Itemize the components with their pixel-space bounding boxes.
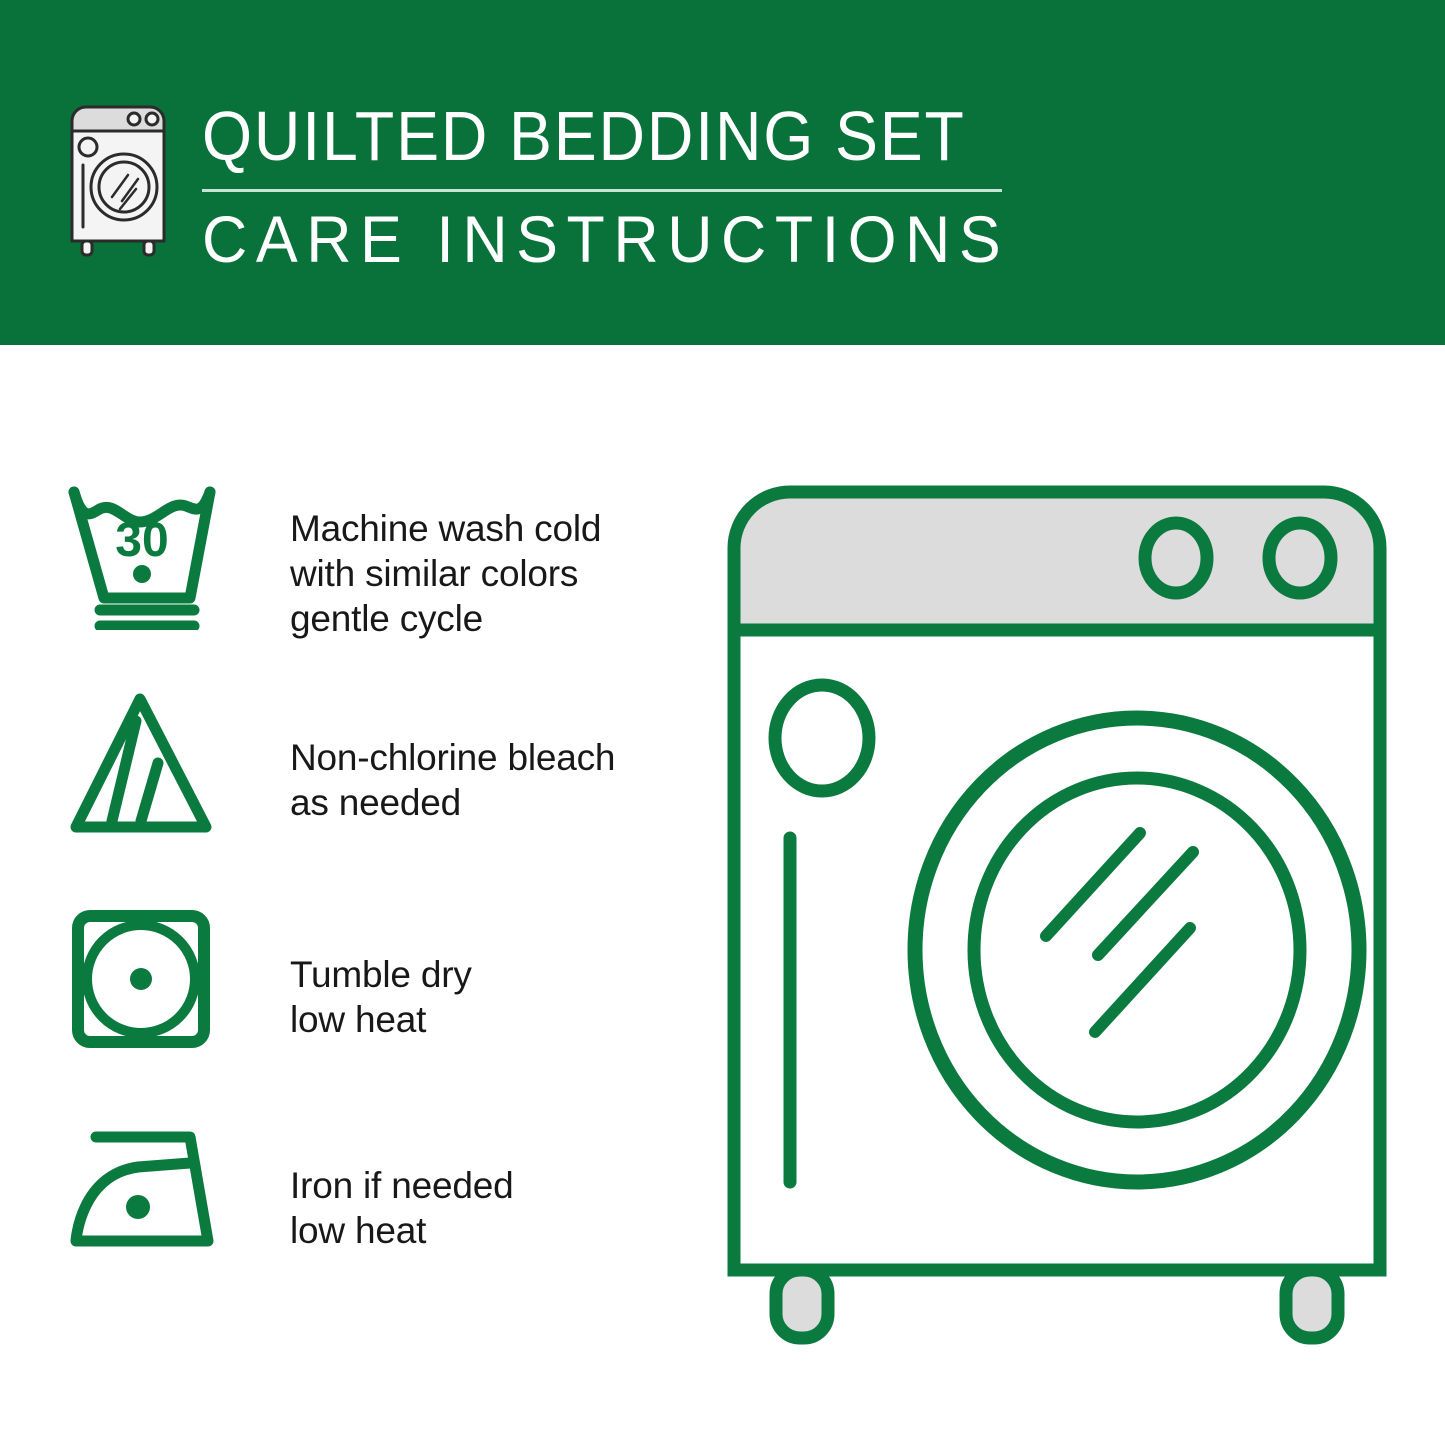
page-subtitle: CARE INSTRUCTIONS — [202, 206, 1009, 272]
care-label-line: Non-chlorine bleach — [290, 735, 702, 780]
header-titles: QUILTED BEDDING SET CARE INSTRUCTIONS — [202, 95, 1052, 272]
care-label-tumble-dry: Tumble dry low heat — [232, 900, 702, 1042]
header-banner: QUILTED BEDDING SET CARE INSTRUCTIONS — [0, 0, 1445, 345]
care-label-line: Machine wash cold — [290, 506, 702, 551]
leg-left — [776, 1270, 828, 1338]
washing-machine-icon — [60, 95, 180, 260]
detergent-dispenser — [775, 685, 869, 791]
page-title: QUILTED BEDDING SET — [202, 101, 984, 171]
care-label-line: gentle cycle — [290, 596, 702, 641]
care-instruction-list: 30 Machine wash cold with similar colors… — [62, 470, 702, 1330]
care-row-bleach: Non-chlorine bleach as needed — [62, 685, 702, 900]
front-load-washing-machine-illustration — [712, 470, 1412, 1360]
care-label-line: as needed — [290, 780, 702, 825]
tumble-dry-low-icon — [62, 900, 232, 1060]
knob-left — [1145, 523, 1207, 593]
title-divider — [202, 189, 1002, 192]
non-chlorine-bleach-triangle-icon — [62, 685, 232, 845]
care-row-wash: 30 Machine wash cold with similar colors… — [62, 470, 702, 685]
care-label-bleach: Non-chlorine bleach as needed — [232, 685, 702, 825]
header-content: QUILTED BEDDING SET CARE INSTRUCTIONS — [60, 95, 1052, 272]
wash-tub-30-gentle-icon: 30 — [62, 470, 232, 630]
care-label-iron: Iron if needed low heat — [232, 1115, 702, 1253]
care-label-line: low heat — [290, 1208, 702, 1253]
care-label-wash: Machine wash cold with similar colors ge… — [232, 470, 702, 641]
care-row-iron: Iron if needed low heat — [62, 1115, 702, 1330]
iron-low-heat-icon — [62, 1115, 232, 1275]
knob-right — [1269, 523, 1331, 593]
care-label-line: Tumble dry — [290, 952, 702, 997]
care-row-tumble-dry: Tumble dry low heat — [62, 900, 702, 1115]
care-instructions-infographic: QUILTED BEDDING SET CARE INSTRUCTIONS 30 — [0, 0, 1445, 1445]
care-label-line: low heat — [290, 997, 702, 1042]
care-label-line: with similar colors — [290, 551, 702, 596]
leg-right — [1286, 1270, 1338, 1338]
care-label-line: Iron if needed — [290, 1163, 702, 1208]
wash-temperature-value: 30 — [115, 514, 168, 567]
